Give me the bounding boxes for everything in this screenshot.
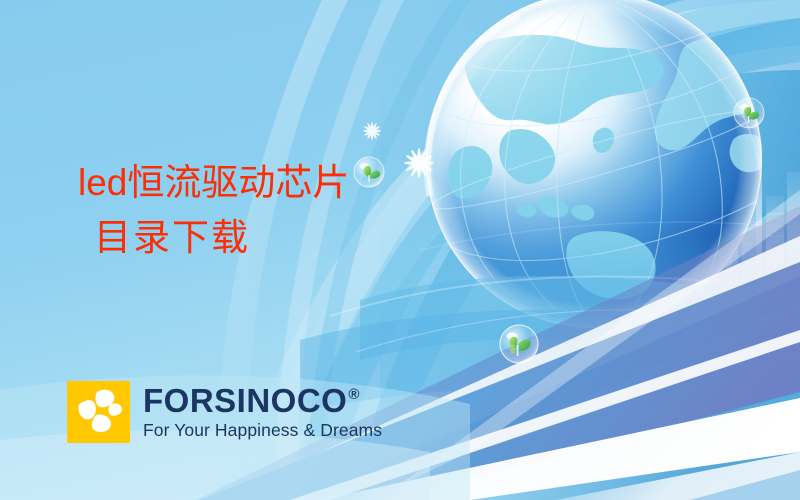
headline-text: led恒流驱动芯片 目录下载 — [78, 164, 349, 256]
company-logo: FORSINOCO ® For Your Happiness & Dreams — [67, 381, 382, 443]
four-petal-pinwheel-logo-mark — [67, 381, 130, 443]
brand-name-row: FORSINOCO ® — [143, 385, 382, 417]
headline-line-2: 目录下载 — [94, 219, 349, 256]
brand-name: FORSINOCO — [143, 385, 347, 417]
poster-canvas: led恒流驱动芯片 目录下载 FORSINOCO ® For Your Happ… — [0, 0, 800, 500]
registered-trademark-symbol: ® — [348, 387, 359, 402]
logo-text-block: FORSINOCO ® For Your Happiness & Dreams — [143, 381, 382, 441]
brand-tagline: For Your Happiness & Dreams — [143, 420, 382, 441]
headline-line-1: led恒流驱动芯片 — [78, 164, 349, 201]
